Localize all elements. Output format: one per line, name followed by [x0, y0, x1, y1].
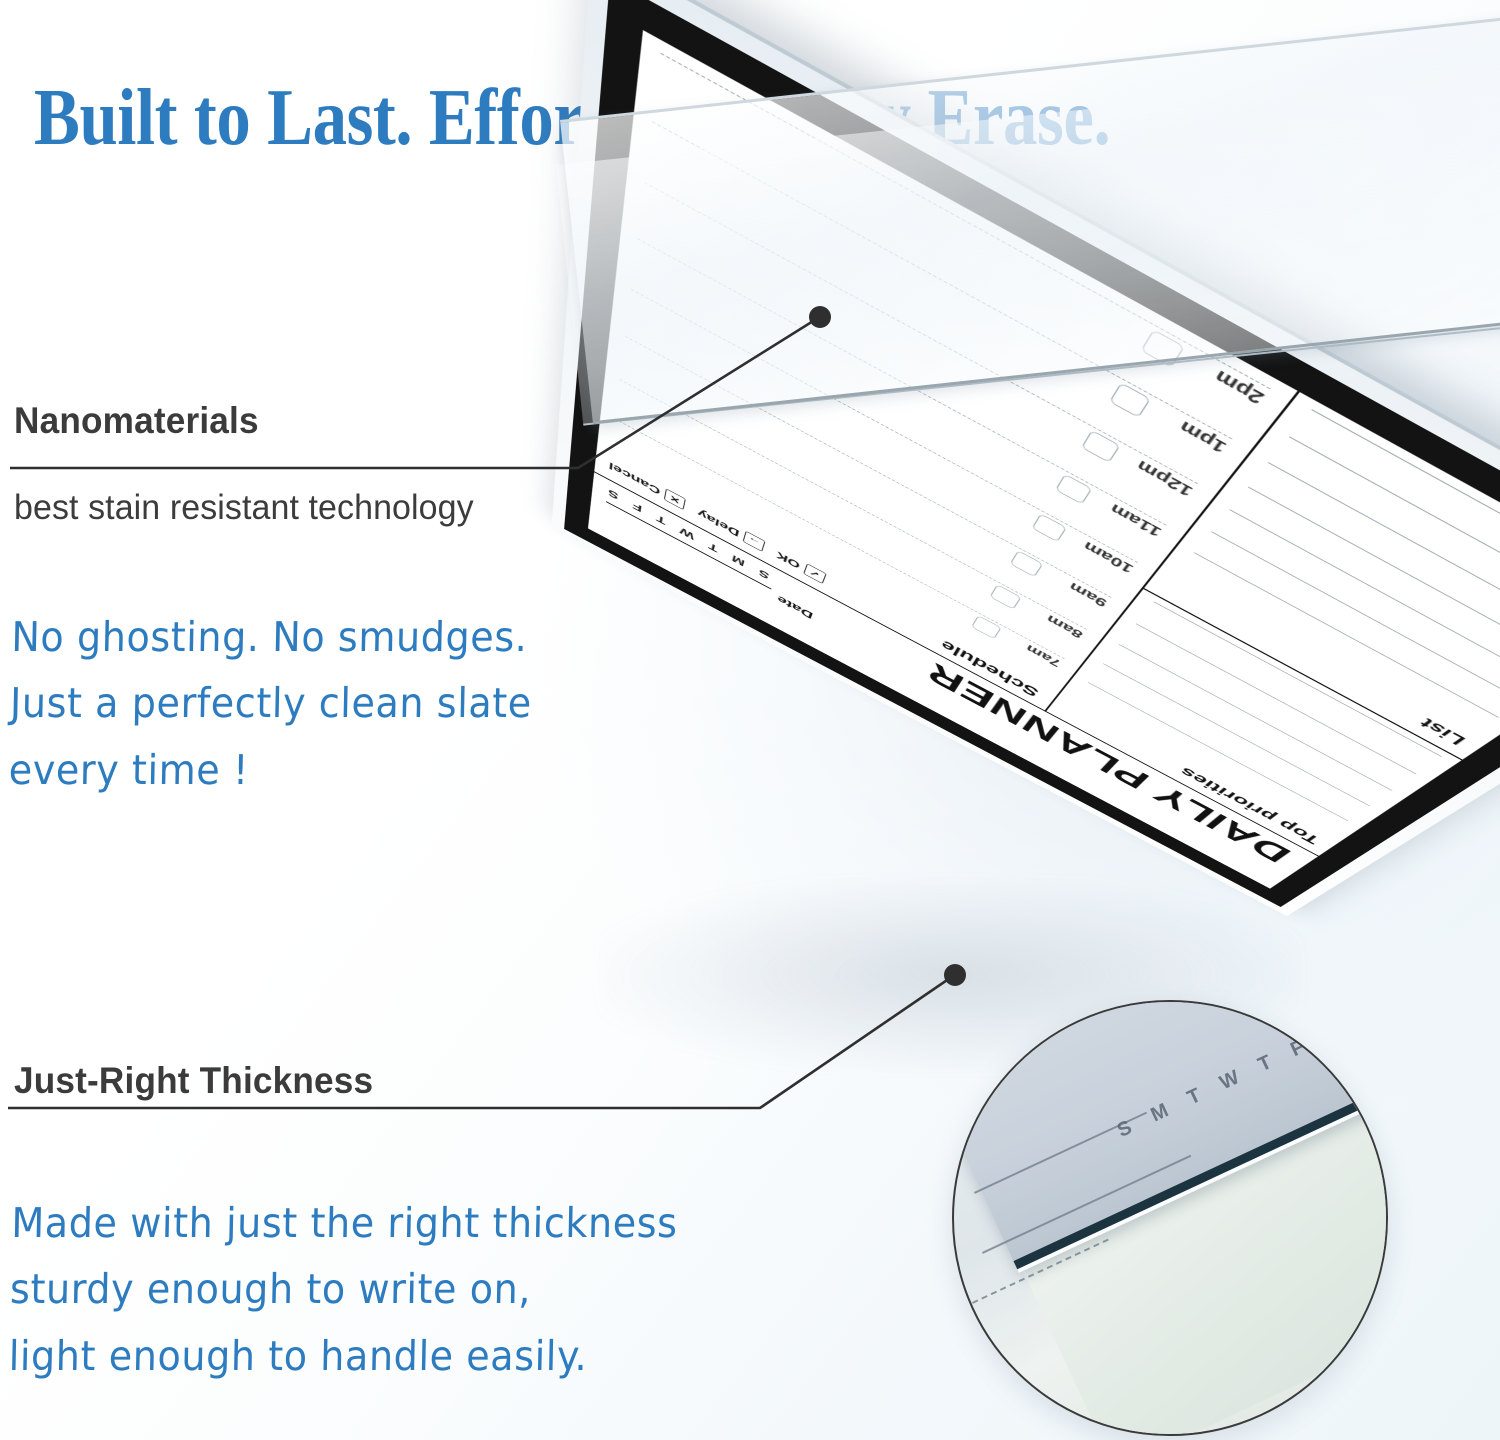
day-letter: T: [707, 539, 719, 554]
schedule-checkbox[interactable]: [1010, 550, 1043, 577]
schedule-time: 2pm: [1188, 353, 1269, 408]
feature-body-nanomaterials: No ghosting. No smudges. Just a perfectl…: [8, 604, 534, 803]
product-feature-image: Built to Last. Effortless to Dry Erase. …: [0, 0, 1500, 1440]
date-label: Date: [776, 593, 815, 621]
day-letter: F: [631, 499, 643, 514]
schedule-time: 9am: [1047, 569, 1110, 609]
planner-board-stage: DAILY PLANNER Date S M T W T: [540, 150, 1500, 1030]
planner-sheet: DAILY PLANNER Date S M T W T: [588, 30, 1500, 889]
schedule-checkbox[interactable]: [1109, 382, 1151, 417]
day-letter: M: [730, 552, 746, 568]
schedule-checkbox[interactable]: [1081, 430, 1120, 463]
schedule-checkbox[interactable]: [1031, 514, 1066, 543]
day-letter: S: [757, 566, 771, 581]
schedule-time: 1pm: [1154, 404, 1231, 455]
feature-subtitle-nanomaterials: best stain resistant technology: [14, 488, 474, 528]
write-line[interactable]: [1249, 462, 1500, 665]
edge-thickness-closeup: S M T W T F S: [952, 1000, 1388, 1436]
schedule-time: 11am: [1096, 494, 1165, 539]
day-letter: S: [607, 486, 619, 502]
feature-title-nanomaterials: Nanomaterials: [14, 400, 259, 442]
day-letter: W: [678, 524, 695, 542]
schedule-checkbox[interactable]: [1140, 329, 1185, 367]
schedule-time: 12pm: [1124, 451, 1197, 499]
write-line[interactable]: [1230, 486, 1500, 683]
write-line[interactable]: [1269, 436, 1500, 645]
feature-title-thickness: Just-Right Thickness: [14, 1060, 373, 1102]
schedule-checkbox[interactable]: [1055, 474, 1092, 505]
feature-body-thickness: Made with just the right thickness sturd…: [8, 1190, 678, 1389]
schedule-time: 10am: [1071, 533, 1137, 576]
day-letter: T: [655, 511, 667, 526]
